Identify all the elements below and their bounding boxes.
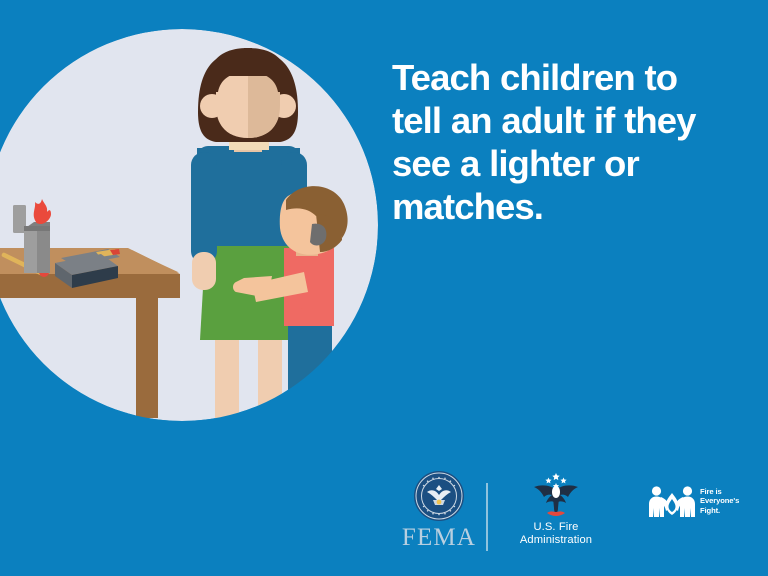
fief-wordmark-line-3: Fight. <box>700 506 739 515</box>
usfa-eagle-head <box>552 486 560 498</box>
dhs-seal <box>413 470 465 522</box>
table-leg <box>136 298 158 418</box>
fief-wordmark-line-2: Everyone's <box>700 496 739 505</box>
fire-is-everyones-fight-people-mark <box>648 484 696 518</box>
logo-divider <box>486 483 488 551</box>
usfa-eagle-body <box>553 498 559 514</box>
usfa-wordmark-line-2: Administration <box>504 534 608 547</box>
logo-bar: FEMA <box>380 470 768 556</box>
page-title: Teach children to tell an adult if they … <box>392 56 736 228</box>
fema-logo: FEMA <box>391 470 487 551</box>
woman-arm-left <box>191 152 217 264</box>
illustration-fire-safety-scene <box>0 0 400 440</box>
lighter-hinge <box>24 226 50 231</box>
fief-head-left <box>652 486 661 495</box>
headline-line-1: Teach children to <box>392 56 736 99</box>
usfa-flame <box>547 511 565 516</box>
fire-is-everyones-fight-logo: Fire is Everyone's Fight. <box>648 484 768 518</box>
fief-head-right <box>683 486 692 495</box>
headline-line-4: matches. <box>392 185 736 228</box>
fief-wordmark-line-1: Fire is <box>700 487 739 496</box>
woman-hand-left <box>192 252 216 290</box>
fire-is-everyones-fight-wordmark: Fire is Everyone's Fight. <box>700 487 739 515</box>
usfa-eagle-mark <box>529 472 583 520</box>
poster-canvas: Teach children to tell an adult if they … <box>0 0 768 576</box>
headline-line-2: tell an adult if they <box>392 99 736 142</box>
usfa-logo: U.S. Fire Administration <box>504 472 608 548</box>
usfa-wordmark: U.S. Fire Administration <box>504 521 608 548</box>
headline-line-3: see a lighter or <box>392 142 736 185</box>
lighter-body-shade <box>37 229 50 273</box>
usfa-wordmark-line-1: U.S. Fire <box>504 521 608 534</box>
fema-wordmark: FEMA <box>391 525 487 551</box>
